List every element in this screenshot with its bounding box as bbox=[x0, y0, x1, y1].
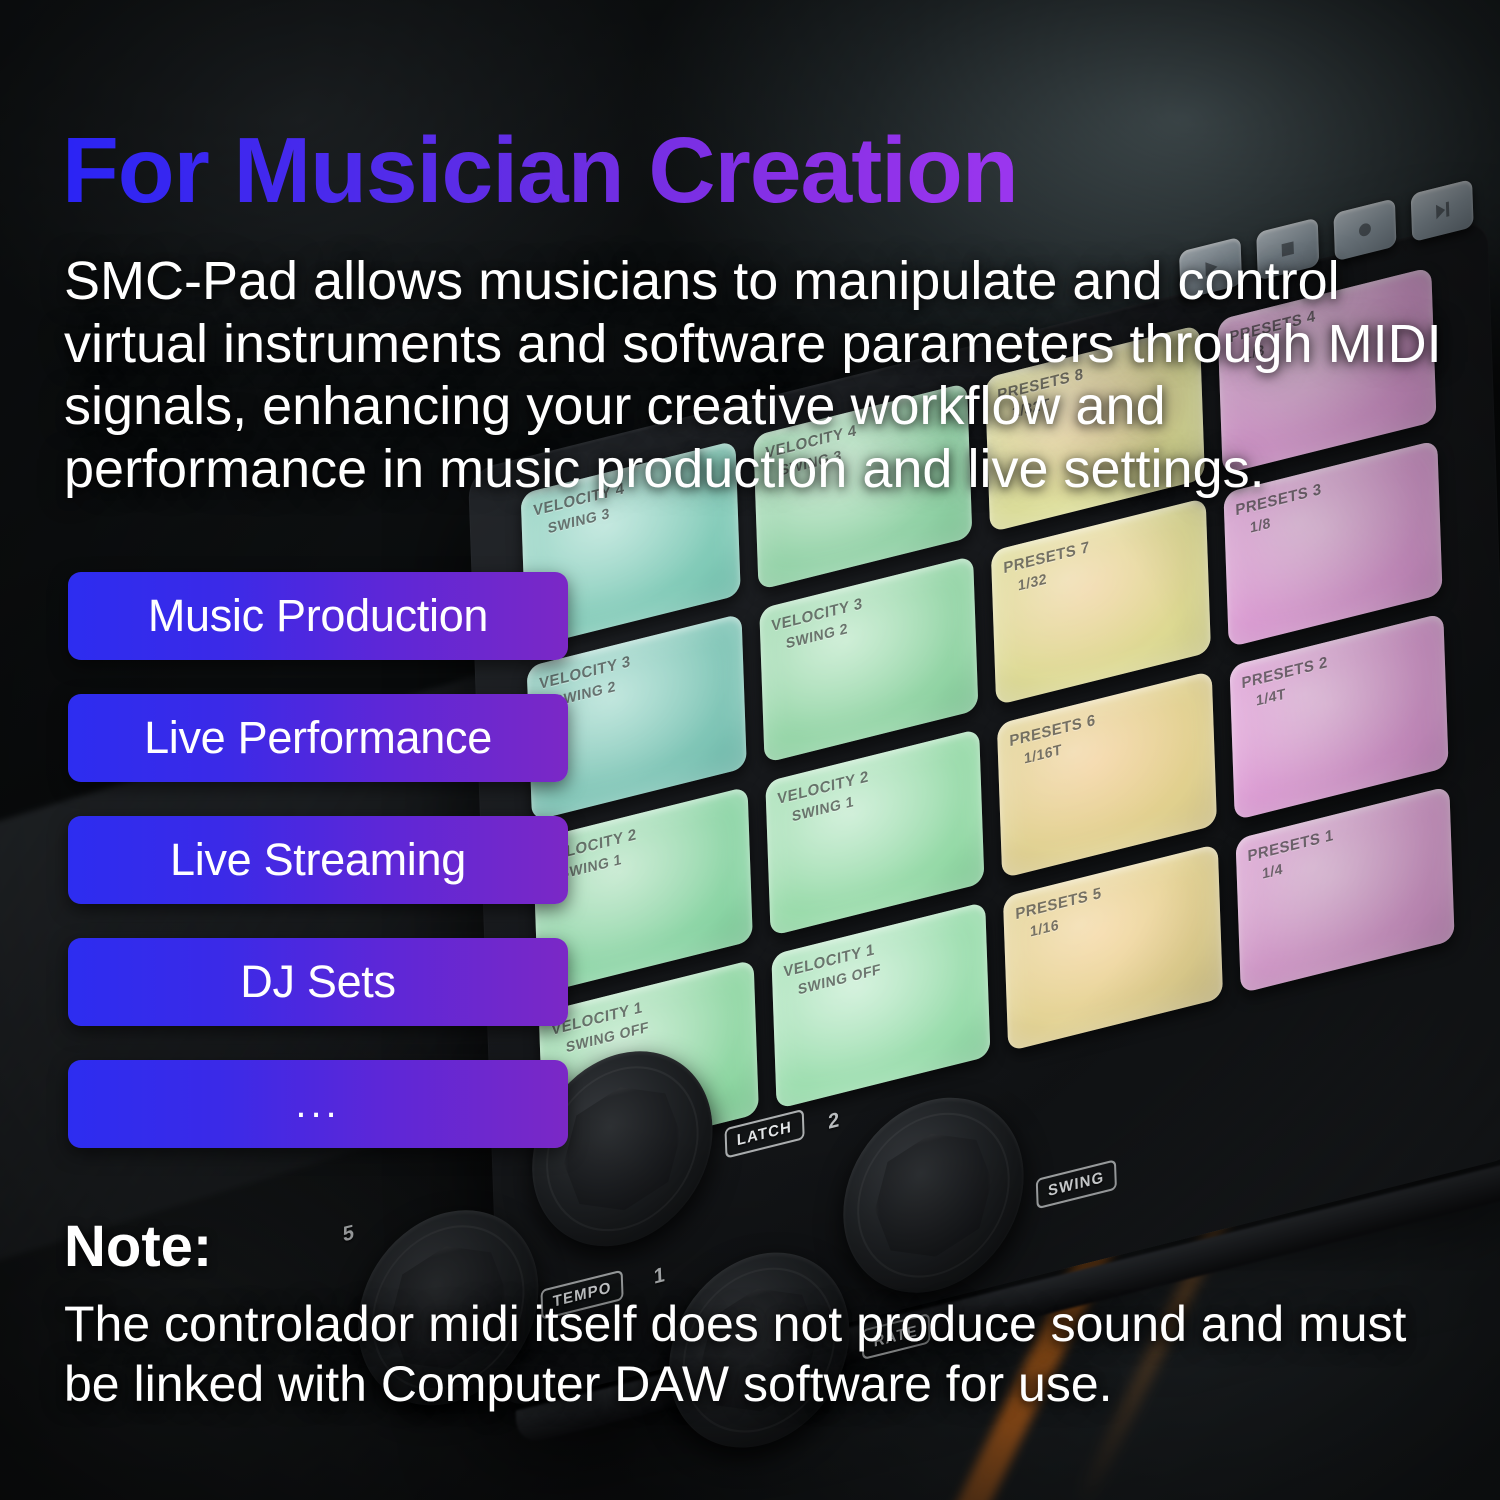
product-infographic: VELOCITY 4SWING 3 PAD13 VELOCITY 4SWING … bbox=[0, 0, 1500, 1500]
note-title: Note: bbox=[64, 1218, 1474, 1276]
use-case-live-performance[interactable]: Live Performance bbox=[68, 694, 568, 782]
intro-paragraph: SMC-Pad allows musicians to manipulate a… bbox=[64, 250, 1464, 501]
use-case-live-streaming[interactable]: Live Streaming bbox=[68, 816, 568, 904]
use-case-list: Music Production Live Performance Live S… bbox=[68, 572, 568, 1148]
use-case-music-production[interactable]: Music Production bbox=[68, 572, 568, 660]
overlay-content: For Musician Creation SMC-Pad allows mus… bbox=[0, 0, 1500, 1500]
use-case-more[interactable]: ... bbox=[68, 1060, 568, 1148]
note-section: Note: The controlador midi itself does n… bbox=[64, 1218, 1474, 1414]
page-title: For Musician Creation bbox=[62, 124, 1018, 217]
note-body: The controlador midi itself does not pro… bbox=[64, 1294, 1474, 1414]
use-case-dj-sets[interactable]: DJ Sets bbox=[68, 938, 568, 1026]
